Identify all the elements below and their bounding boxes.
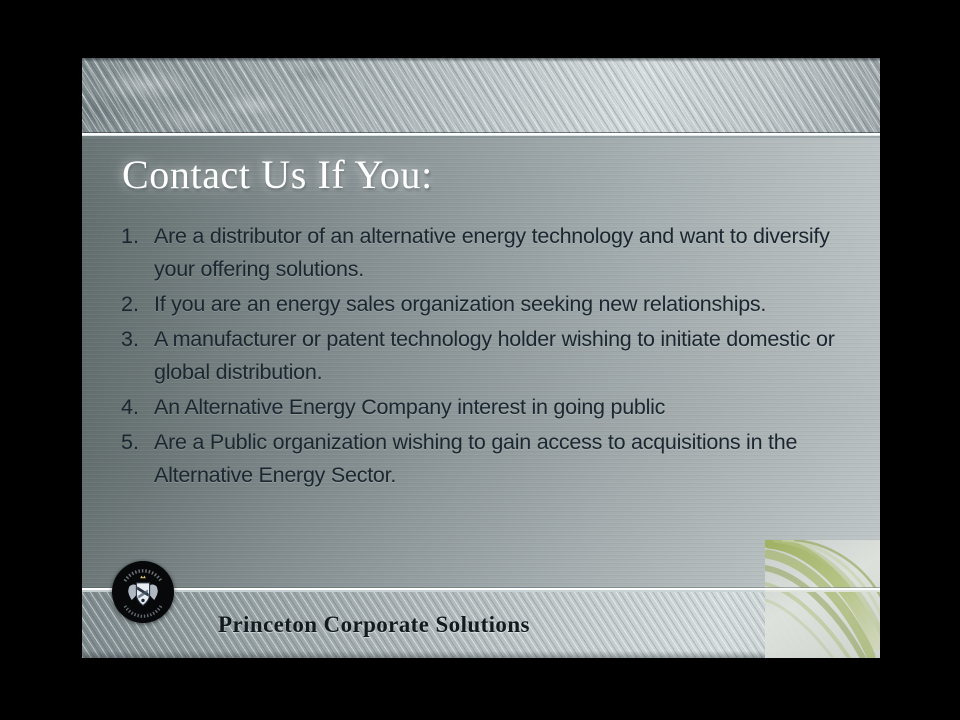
list-item-number: 2.: [118, 288, 154, 321]
princeton-crest-logo-icon: [112, 561, 174, 623]
list-item: 1. Are a distributor of an alternative e…: [118, 220, 848, 286]
list-item: 2. If you are an energy sales organizati…: [118, 288, 848, 321]
footer-bottom-shade: [82, 651, 880, 658]
video-letterbox-stage: Contact Us If You: 1. Are a distributor …: [0, 0, 960, 720]
list-item-number: 4.: [118, 391, 154, 424]
list-item-text: If you are an energy sales organization …: [154, 288, 848, 321]
list-item: 5. Are a Public organization wishing to …: [118, 426, 848, 492]
slide-header-metal-band: [82, 58, 880, 134]
footer-chrome-divider-over-decor: [765, 587, 880, 592]
presentation-slide: Contact Us If You: 1. Are a distributor …: [82, 58, 880, 658]
green-swoosh-arcs-decoration-icon: [765, 540, 880, 658]
list-item-text: Are a distributor of an alternative ener…: [154, 220, 848, 286]
list-item-number: 3.: [118, 323, 154, 389]
list-item-text: Are a Public organization wishing to gai…: [154, 426, 848, 492]
slide-title: Contact Us If You:: [122, 151, 433, 198]
slide-bullet-list: 1. Are a distributor of an alternative e…: [118, 220, 848, 494]
list-item-text: A manufacturer or patent technology hold…: [154, 323, 848, 389]
list-item-number: 5.: [118, 426, 154, 492]
footer-chrome-divider: [82, 587, 880, 592]
footer-company-name: Princeton Corporate Solutions: [218, 612, 530, 638]
list-item-number: 1.: [118, 220, 154, 286]
list-item: 4. An Alternative Energy Company interes…: [118, 391, 848, 424]
header-diagonal-hatch-overlay: [82, 58, 880, 134]
list-item-text: An Alternative Energy Company interest i…: [154, 391, 848, 424]
header-chrome-divider: [82, 132, 880, 138]
list-item: 3. A manufacturer or patent technology h…: [118, 323, 848, 389]
header-top-shade: [82, 58, 880, 62]
